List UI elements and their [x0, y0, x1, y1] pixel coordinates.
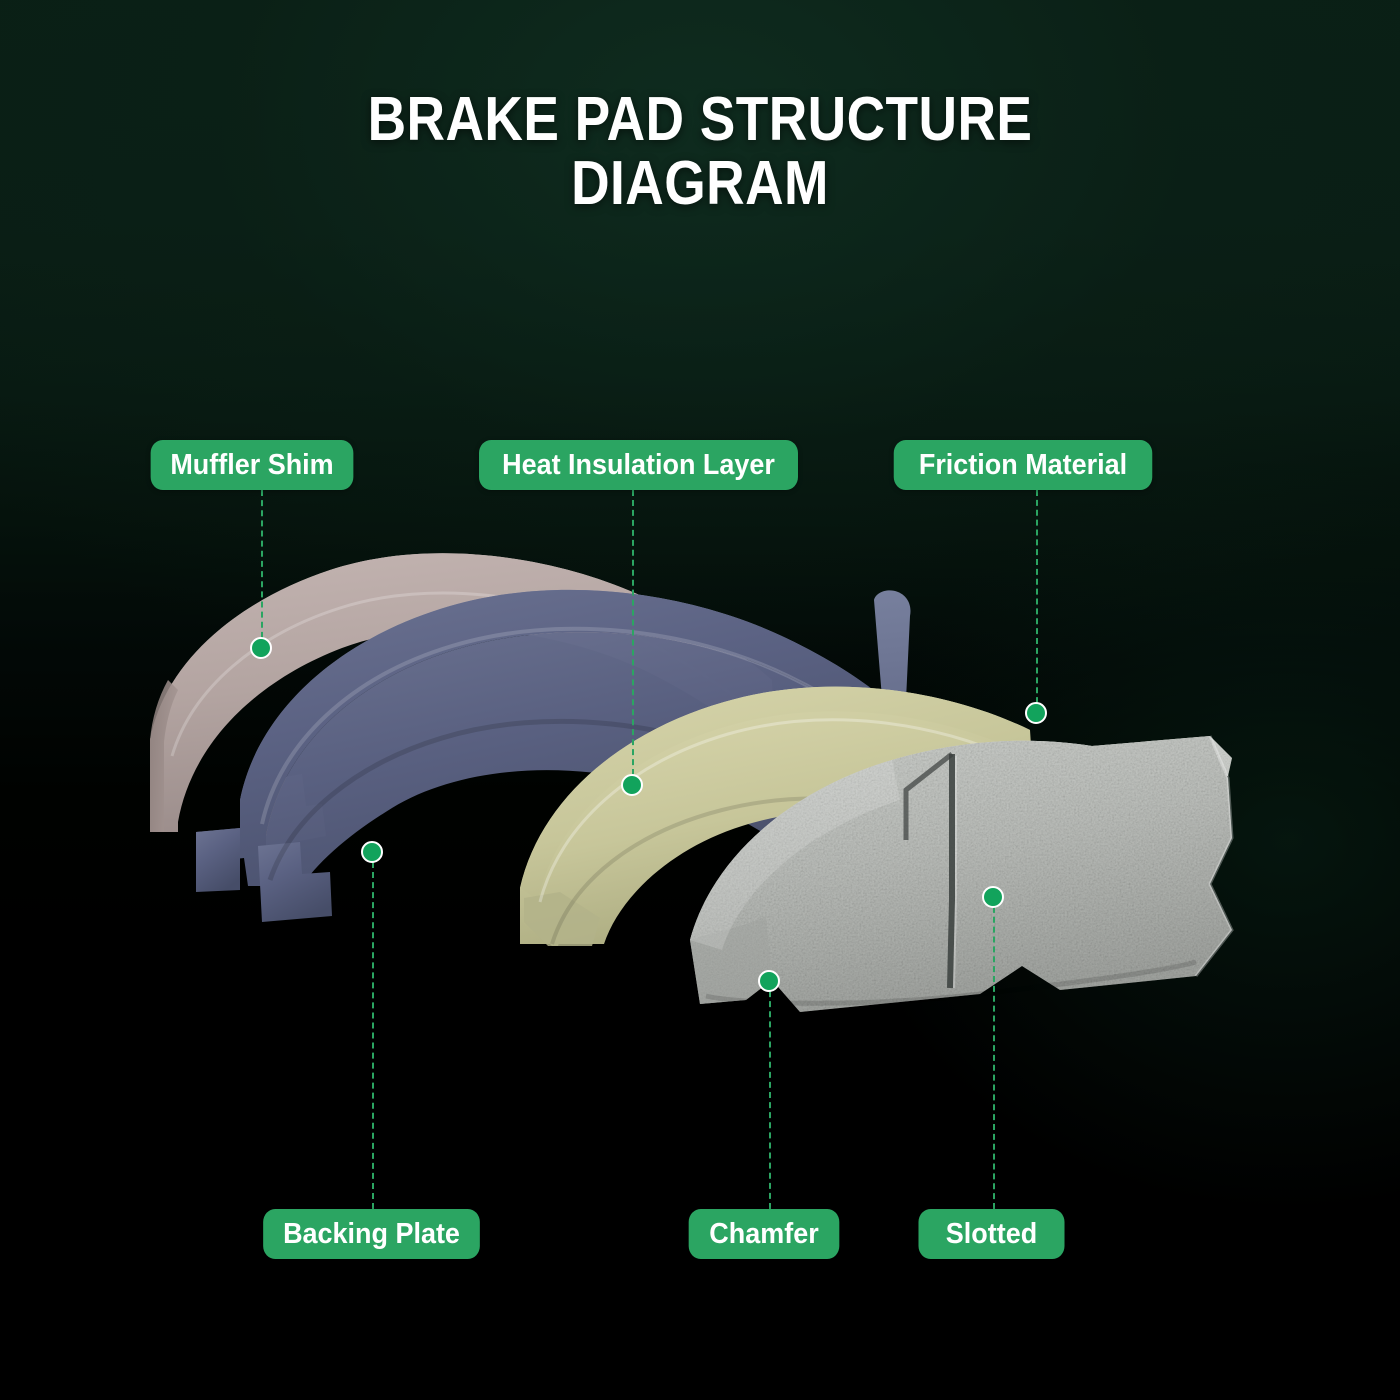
- callout-label-text: Slotted: [918, 1209, 1064, 1259]
- callout-dot-slotted: [982, 886, 1004, 908]
- leader-line-backing-plate: [372, 852, 374, 1209]
- leader-line-muffler-shim: [261, 490, 263, 648]
- callout-label-text: Chamfer: [689, 1209, 840, 1259]
- callout-dot-muffler-shim: [250, 637, 272, 659]
- callout-label-text: Friction Material: [894, 440, 1153, 490]
- callout-label-friction-material[interactable]: Friction Material: [894, 440, 1153, 490]
- callout-label-text: Backing Plate: [263, 1209, 480, 1259]
- callout-dot-friction-material: [1025, 702, 1047, 724]
- callout-label-heat-insulation-layer[interactable]: Heat Insulation Layer: [479, 440, 798, 490]
- diagram-page: BRAKE PAD STRUCTURE DIAGRAM: [0, 0, 1400, 1400]
- callout-label-slotted[interactable]: Slotted: [918, 1209, 1064, 1259]
- leader-line-heat-insulation-layer: [632, 490, 634, 785]
- leader-line-chamfer: [769, 981, 771, 1209]
- callout-label-chamfer[interactable]: Chamfer: [689, 1209, 840, 1259]
- callout-label-backing-plate[interactable]: Backing Plate: [263, 1209, 480, 1259]
- leader-line-slotted: [993, 897, 995, 1209]
- brake-pad-artwork: [0, 0, 1400, 1400]
- leader-line-friction-material: [1036, 490, 1038, 713]
- callout-label-text: Muffler Shim: [151, 440, 354, 490]
- callout-dot-chamfer: [758, 970, 780, 992]
- callout-label-text: Heat Insulation Layer: [479, 440, 798, 490]
- callout-label-muffler-shim[interactable]: Muffler Shim: [151, 440, 354, 490]
- callout-dot-backing-plate: [361, 841, 383, 863]
- callout-dot-heat-insulation-layer: [621, 774, 643, 796]
